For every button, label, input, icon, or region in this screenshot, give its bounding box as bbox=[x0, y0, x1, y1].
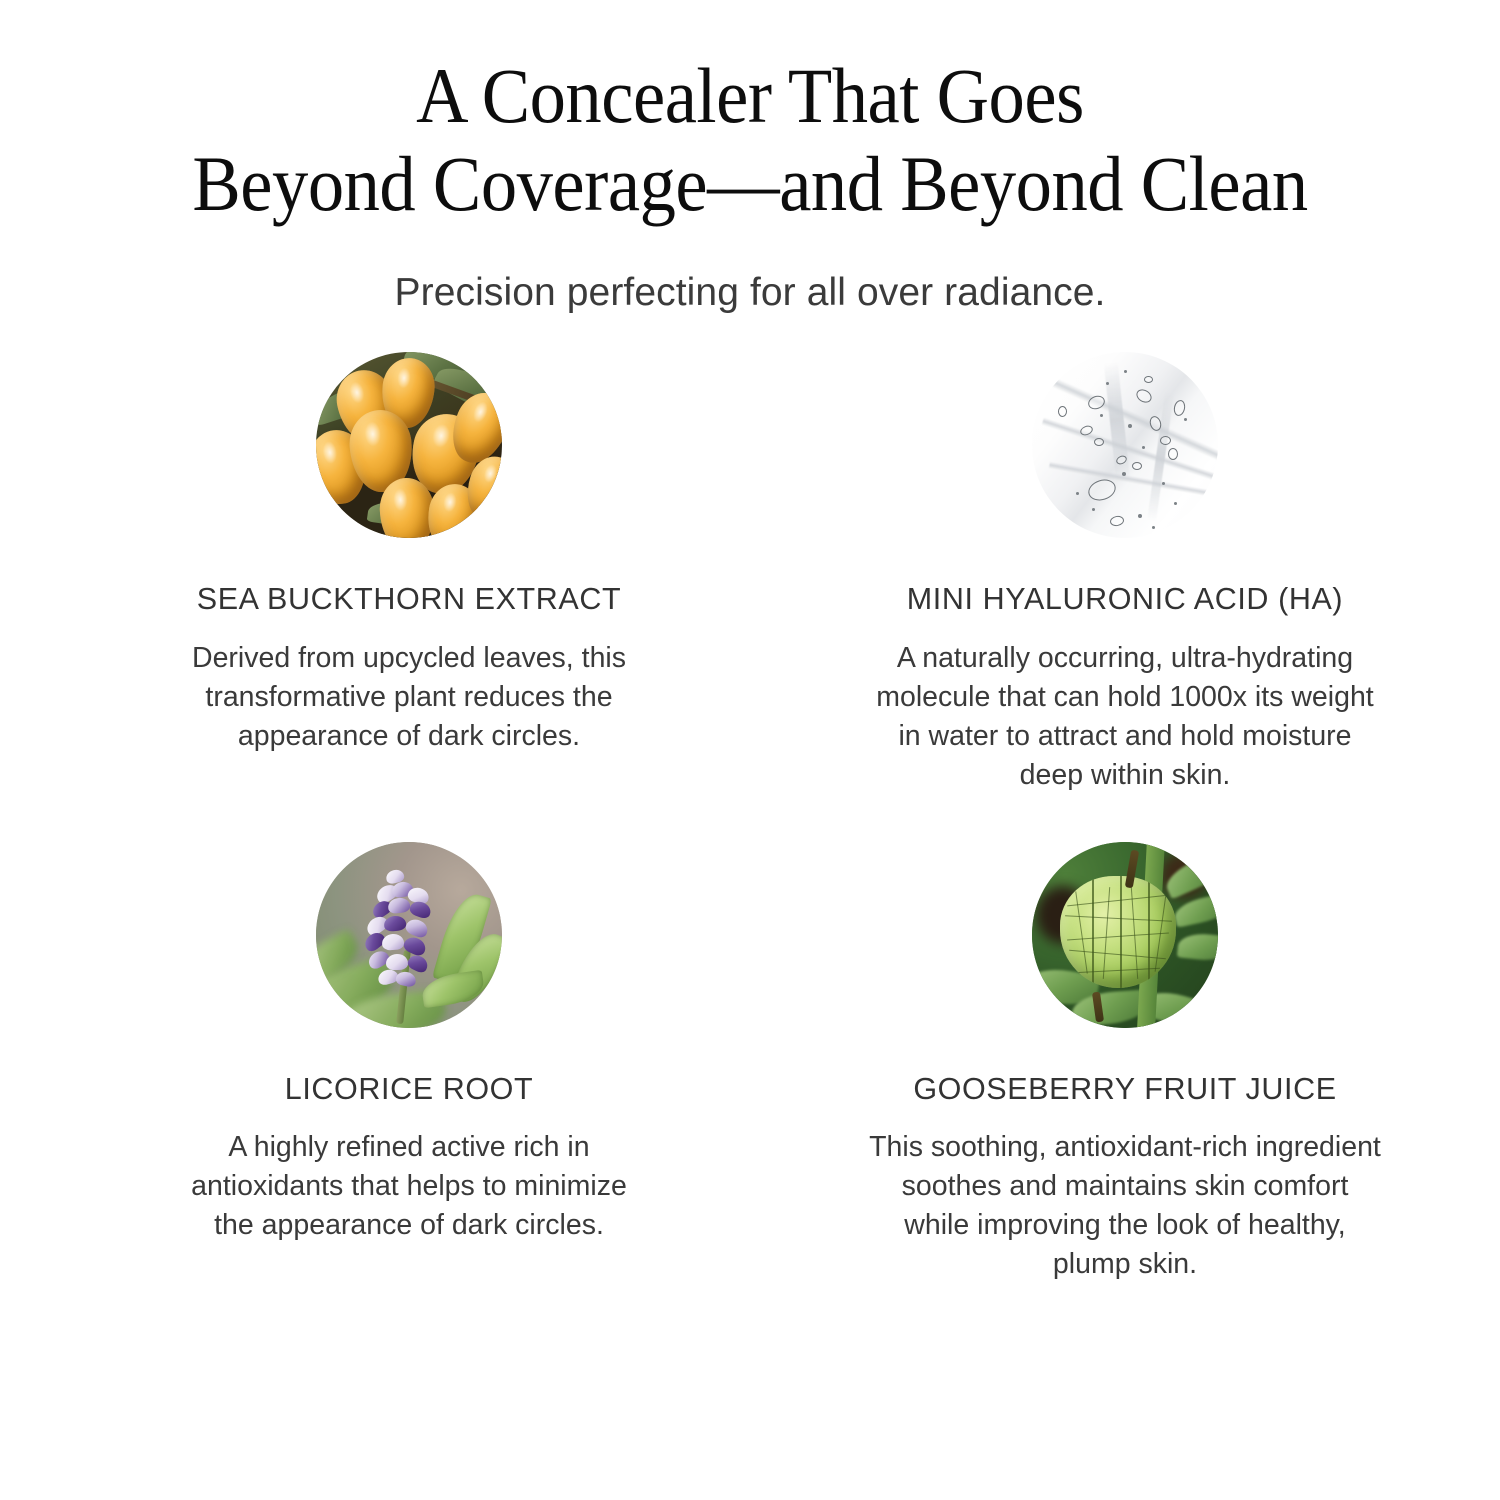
ingredient-grid: SEA BUCKTHORN EXTRACT Derived from upcyc… bbox=[0, 352, 1500, 1284]
description-line: deep within skin. bbox=[876, 756, 1373, 795]
gooseberry-image bbox=[1032, 842, 1218, 1028]
description-line: soothes and maintains skin comfort bbox=[869, 1167, 1381, 1206]
ingredient-card-gooseberry: GOOSEBERRY FRUIT JUICE This soothing, an… bbox=[750, 795, 1500, 1285]
licorice-root-flower-photo bbox=[316, 842, 502, 1028]
ingredient-description: A naturally occurring, ultra-hydrating m… bbox=[876, 639, 1373, 795]
page-header: A Concealer That Goes Beyond Coverage—an… bbox=[0, 0, 1500, 317]
description-line: A naturally occurring, ultra-hydrating bbox=[876, 639, 1373, 678]
description-line: molecule that can hold 1000x its weight bbox=[876, 678, 1373, 717]
clear-gel-texture-swatch-photo bbox=[1032, 352, 1218, 538]
description-line: A highly refined active rich in bbox=[191, 1128, 627, 1167]
ingredient-title: SEA BUCKTHORN EXTRACT bbox=[197, 583, 621, 617]
ingredient-title: LICORICE ROOT bbox=[285, 1073, 533, 1107]
gooseberry-fruit-husk-photo bbox=[1032, 842, 1218, 1028]
description-line: This soothing, antioxidant-rich ingredie… bbox=[869, 1128, 1381, 1167]
headline-line-1: A Concealer That Goes bbox=[127, 52, 1373, 140]
ingredient-card-hyaluronic-acid: MINI HYALURONIC ACID (HA) A naturally oc… bbox=[750, 352, 1500, 795]
licorice-root-image bbox=[316, 842, 502, 1028]
sea-buckthorn-berries-photo bbox=[316, 352, 502, 538]
sea-buckthorn-image bbox=[316, 352, 502, 538]
hyaluronic-acid-image bbox=[1032, 352, 1218, 538]
ingredient-description: Derived from upcycled leaves, this trans… bbox=[192, 639, 626, 756]
description-line: antioxidants that helps to minimize bbox=[191, 1167, 627, 1206]
ingredient-title: GOOSEBERRY FRUIT JUICE bbox=[913, 1073, 1336, 1107]
description-line: Derived from upcycled leaves, this bbox=[192, 639, 626, 678]
description-line: appearance of dark circles. bbox=[192, 717, 626, 756]
description-line: while improving the look of healthy, bbox=[869, 1206, 1381, 1245]
headline-line-2: Beyond Coverage—and Beyond Clean bbox=[127, 140, 1373, 228]
ingredient-description: This soothing, antioxidant-rich ingredie… bbox=[869, 1128, 1381, 1284]
ingredient-title: MINI HYALURONIC ACID (HA) bbox=[907, 583, 1343, 617]
description-line: plump skin. bbox=[869, 1245, 1381, 1284]
ingredient-description: A highly refined active rich in antioxid… bbox=[191, 1128, 627, 1245]
ingredient-card-sea-buckthorn: SEA BUCKTHORN EXTRACT Derived from upcyc… bbox=[0, 352, 750, 795]
ingredient-benefits-page: A Concealer That Goes Beyond Coverage—an… bbox=[0, 0, 1500, 1500]
page-subtitle: Precision perfecting for all over radian… bbox=[0, 270, 1500, 317]
description-line: in water to attract and hold moisture bbox=[876, 717, 1373, 756]
page-title: A Concealer That Goes Beyond Coverage—an… bbox=[127, 52, 1373, 228]
description-line: transformative plant reduces the bbox=[192, 678, 626, 717]
description-line: the appearance of dark circles. bbox=[191, 1206, 627, 1245]
ingredient-card-licorice-root: LICORICE ROOT A highly refined active ri… bbox=[0, 795, 750, 1285]
